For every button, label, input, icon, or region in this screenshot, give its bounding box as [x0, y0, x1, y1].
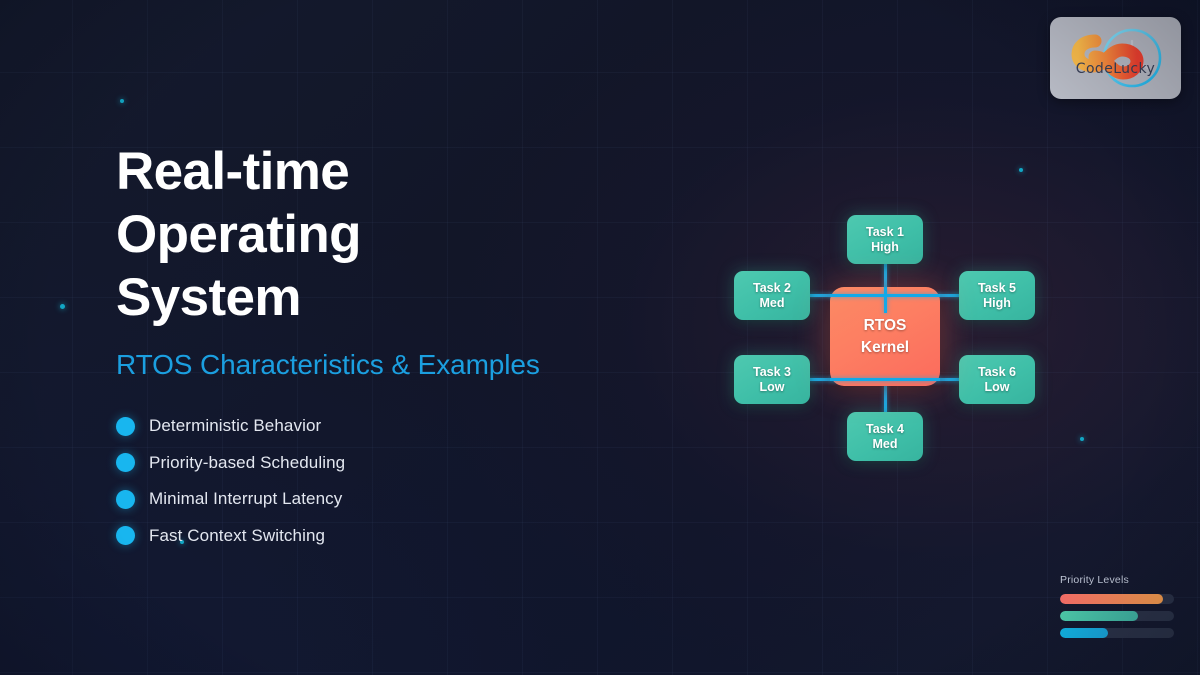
task-node-task-1[interactable]: Task 1 High: [847, 215, 923, 264]
priority-bar-low: [1060, 628, 1174, 638]
priority-bar-medium-fill: [1060, 611, 1138, 621]
task-node-task-5[interactable]: Task 5 High: [959, 271, 1035, 320]
task-node-priority: Med: [760, 296, 785, 311]
rtos-kernel-node[interactable]: RTOS Kernel: [830, 287, 940, 386]
page-subtitle: RTOS Characteristics & Examples: [116, 349, 540, 381]
task-node-priority: Low: [985, 380, 1010, 395]
task-node-name: Task 2: [753, 281, 791, 296]
task-node-name: Task 3: [753, 365, 791, 380]
infinity-clock-logo-icon: [1050, 17, 1181, 99]
task-node-name: Task 4: [866, 422, 904, 437]
task-node-name: Task 5: [978, 281, 1016, 296]
codelucky-logo-card[interactable]: CodeLucky: [1050, 17, 1181, 99]
kernel-label-line-1: RTOS: [864, 315, 907, 337]
connector-line-horizontal-upper: [770, 294, 997, 297]
bullet-icon: [116, 417, 135, 436]
task-node-task-3[interactable]: Task 3 Low: [734, 355, 810, 404]
headline-line-2: Operating: [116, 203, 586, 266]
connector-overlay-horizontal-lower: [830, 378, 940, 381]
background-grid: [0, 0, 1200, 675]
decorative-dot: [1019, 168, 1023, 172]
list-item-label: Minimal Interrupt Latency: [149, 489, 342, 509]
slide-canvas: CodeLucky Real-time Operating System RTO…: [0, 0, 1200, 675]
task-node-priority: High: [871, 240, 899, 255]
connector-line-vertical-bottom: [884, 360, 887, 436]
task-node-name: Task 1: [866, 225, 904, 240]
list-item: Priority-based Scheduling: [116, 445, 546, 482]
feature-list: Deterministic Behavior Priority-based Sc…: [116, 408, 546, 554]
priority-legend: Priority Levels: [1060, 574, 1174, 645]
decorative-dot: [1080, 437, 1084, 441]
bullet-icon: [116, 490, 135, 509]
bullet-icon: [116, 526, 135, 545]
logo-brand-text: CodeLucky: [1050, 61, 1181, 77]
list-item: Minimal Interrupt Latency: [116, 481, 546, 518]
task-node-task-6[interactable]: Task 6 Low: [959, 355, 1035, 404]
kernel-label-line-2: Kernel: [861, 337, 909, 359]
task-node-task-4[interactable]: Task 4 Med: [847, 412, 923, 461]
bullet-icon: [116, 453, 135, 472]
connector-overlay-horizontal-upper: [830, 294, 940, 297]
priority-bar-high-fill: [1060, 594, 1163, 604]
vignette-overlay: [0, 0, 1200, 675]
task-node-priority: High: [983, 296, 1011, 311]
task-node-priority: Low: [760, 380, 785, 395]
connector-line-horizontal-lower: [770, 378, 997, 381]
priority-bar-low-fill: [1060, 628, 1108, 638]
list-item: Deterministic Behavior: [116, 408, 546, 445]
list-item-label: Deterministic Behavior: [149, 416, 321, 436]
rtos-kernel-diagram: Task 1 High Task 2 Med Task 3 Low Task 4…: [0, 0, 1200, 675]
legend-title: Priority Levels: [1060, 574, 1174, 586]
decorative-dot: [120, 99, 124, 103]
page-title: Real-time Operating System: [116, 140, 586, 329]
priority-bar-medium: [1060, 611, 1174, 621]
decorative-dot: [60, 304, 65, 309]
priority-bar-high: [1060, 594, 1174, 604]
list-item: Fast Context Switching: [116, 518, 546, 555]
headline-line-1: Real-time: [116, 140, 586, 203]
task-node-name: Task 6: [978, 365, 1016, 380]
task-node-task-2[interactable]: Task 2 Med: [734, 271, 810, 320]
task-node-priority: Med: [873, 437, 898, 452]
connector-overlay-vertical: [884, 287, 887, 313]
list-item-label: Fast Context Switching: [149, 526, 325, 546]
list-item-label: Priority-based Scheduling: [149, 453, 345, 473]
headline-line-3: System: [116, 266, 586, 329]
connector-line-vertical-top: [884, 238, 887, 313]
